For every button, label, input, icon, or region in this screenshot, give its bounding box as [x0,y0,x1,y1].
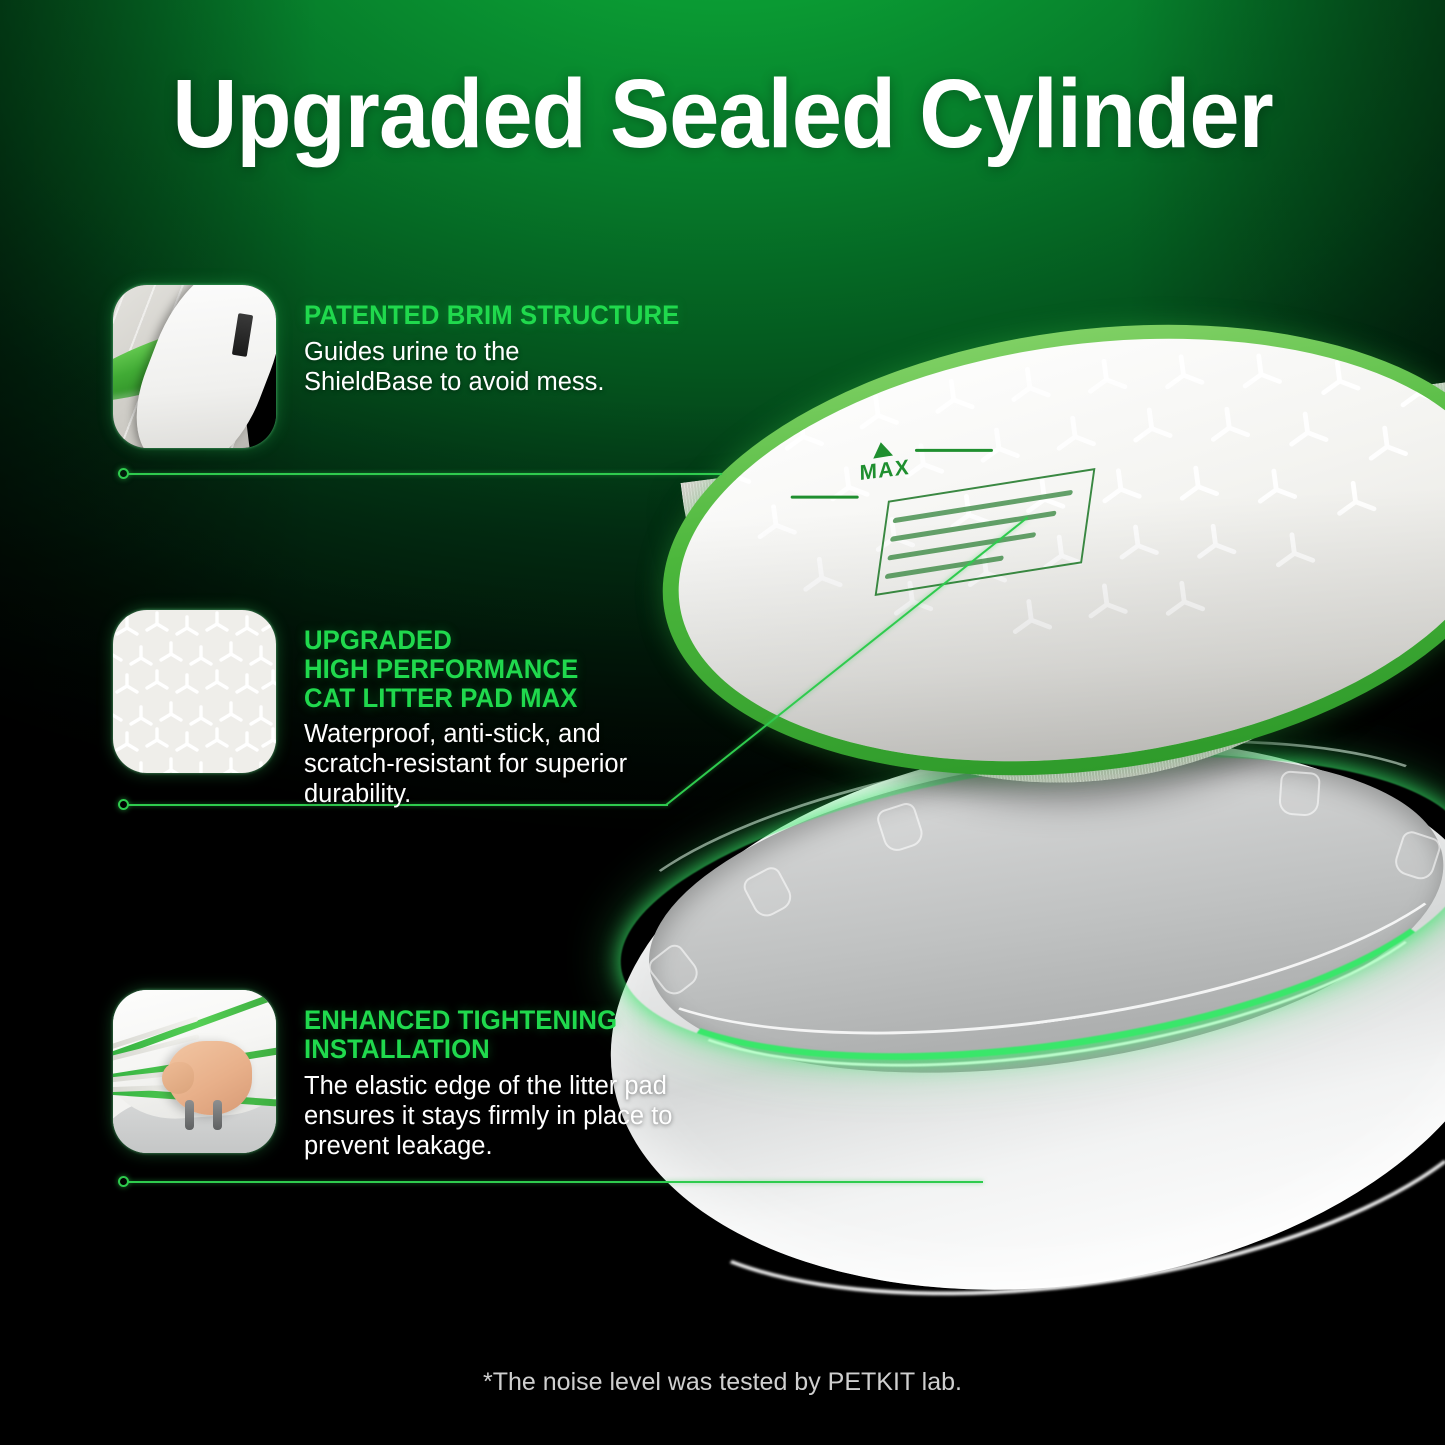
feature-body: Waterproof, anti-stick, and scratch-resi… [304,719,627,809]
feature-body: The elastic edge of the litter pad ensur… [304,1071,672,1161]
product-feature-poster: MAX Upgraded Sealed Cylinder [0,0,1445,1445]
feature-block-patented-brim-structure[interactable]: PATENTED BRIM STRUCTURE Guides urine to … [113,285,691,448]
feature-block-enhanced-tightening-installation[interactable]: ENHANCED TIGHTENING INSTALLATION The ela… [113,990,672,1161]
feature-heading: ENHANCED TIGHTENING INSTALLATION [304,1006,661,1064]
feature-body: Guides urine to the ShieldBase to avoid … [304,337,691,397]
page-title: Upgraded Sealed Cylinder [51,58,1395,170]
tri-branch-pattern-icon [113,610,276,773]
hand-stretching-pad-thumbnail[interactable] [113,990,276,1153]
feature-block-cat-litter-pad-max[interactable]: UPGRADED HIGH PERFORMANCE CAT LITTER PAD… [113,610,627,809]
brim-thumbnail-art [113,285,276,448]
feature-heading: UPGRADED HIGH PERFORMANCE CAT LITTER PAD… [304,626,617,712]
brim-cross-section-thumbnail[interactable] [113,285,276,448]
pad-thumbnail-art [113,610,276,773]
base-slot [185,1100,194,1130]
feature-text: ENHANCED TIGHTENING INSTALLATION The ela… [304,990,672,1161]
elastic-thumbnail-art [113,990,276,1153]
footnote: *The noise level was tested by PETKIT la… [0,1368,1445,1397]
litter-pad-texture-thumbnail[interactable] [113,610,276,773]
feature-text: UPGRADED HIGH PERFORMANCE CAT LITTER PAD… [304,610,627,809]
feature-text: PATENTED BRIM STRUCTURE Guides urine to … [304,285,691,397]
feature-heading: PATENTED BRIM STRUCTURE [304,301,679,330]
base-slot [213,1100,222,1130]
